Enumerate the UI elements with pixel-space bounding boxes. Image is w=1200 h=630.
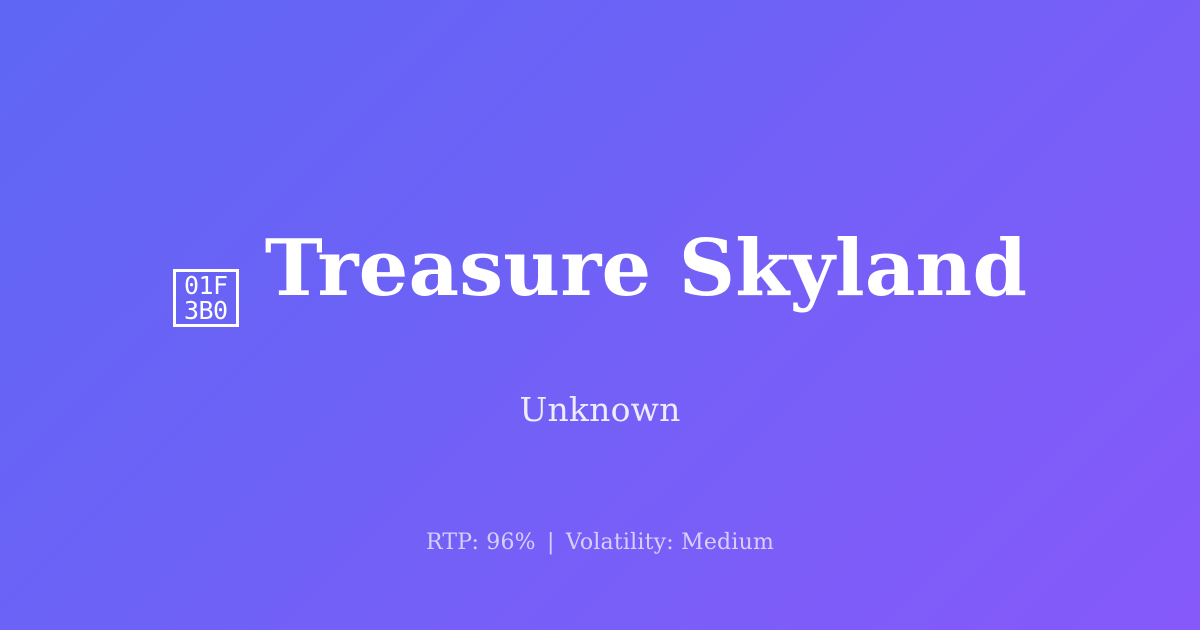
title-row: 01F 3B0 Treasure Skyland	[173, 228, 1027, 328]
page-subtitle: Unknown	[519, 328, 680, 430]
tofu-hex-top: 01F	[184, 273, 228, 298]
game-meta-line: RTP: 96% | Volatility: Medium	[0, 528, 1200, 558]
meta-separator: |	[543, 530, 559, 555]
tofu-hex-bottom: 3B0	[184, 298, 228, 323]
volatility-label: Volatility:	[566, 530, 674, 555]
rtp-value: 96%	[486, 530, 536, 555]
hero-block: 01F 3B0 Treasure Skyland Unknown	[0, 228, 1200, 430]
page-title: Treasure Skyland	[265, 228, 1027, 310]
og-card: 01F 3B0 Treasure Skyland Unknown RTP: 96…	[0, 0, 1200, 630]
slot-machine-icon: 01F 3B0	[173, 269, 239, 327]
volatility-value: Medium	[681, 530, 774, 555]
rtp-label: RTP:	[426, 530, 479, 555]
